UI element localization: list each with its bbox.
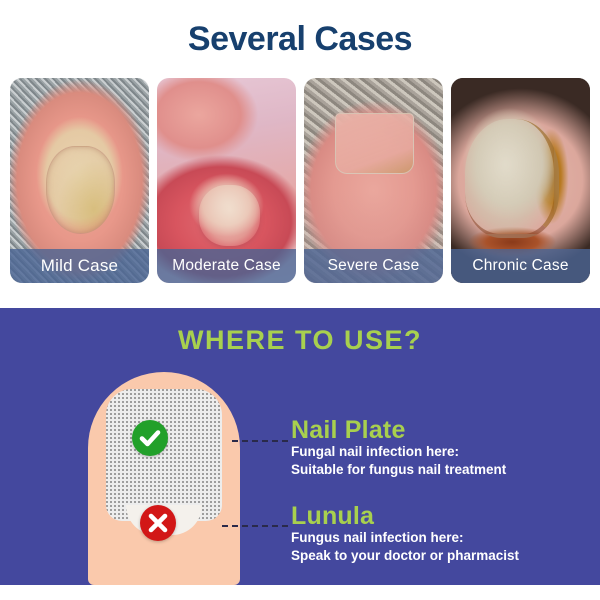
case-label-moderate: Moderate Case (157, 249, 296, 283)
info-line-lunula-1: Fungus nail infection here: (291, 529, 519, 547)
case-card-moderate: Moderate Case (157, 78, 296, 283)
case-card-severe: Severe Case (304, 78, 443, 283)
infographic-page: Several Cases Mild Case Moderate Case Se… (0, 0, 600, 600)
info-block-nail-plate: Nail Plate Fungal nail infection here: S… (291, 417, 506, 479)
case-label-chronic: Chronic Case (451, 249, 590, 283)
case-label-severe: Severe Case (304, 249, 443, 283)
several-cases-section: Several Cases Mild Case Moderate Case Se… (0, 0, 600, 308)
nail-diagram (88, 372, 240, 585)
cases-row: Mild Case Moderate Case Severe Case Chro… (10, 78, 590, 283)
info-heading-nail-plate: Nail Plate (291, 417, 506, 443)
where-to-use-title: WHERE TO USE? (0, 325, 600, 356)
green-check-circle-icon (132, 420, 168, 456)
info-heading-lunula: Lunula (291, 503, 519, 529)
info-line-nail-plate-2: Suitable for fungus nail treatment (291, 461, 506, 479)
case-label-mild: Mild Case (10, 249, 149, 283)
info-block-lunula: Lunula Fungus nail infection here: Speak… (291, 503, 519, 565)
leader-line-nail-plate (232, 440, 288, 442)
bottom-white-strip (0, 585, 600, 600)
leader-line-lunula (222, 525, 288, 527)
red-x-circle-icon (140, 505, 176, 541)
case-card-mild: Mild Case (10, 78, 149, 283)
info-line-nail-plate-1: Fungal nail infection here: (291, 443, 506, 461)
info-line-lunula-2: Speak to your doctor or pharmacist (291, 547, 519, 565)
case-card-chronic: Chronic Case (451, 78, 590, 283)
page-title: Several Cases (0, 20, 600, 59)
